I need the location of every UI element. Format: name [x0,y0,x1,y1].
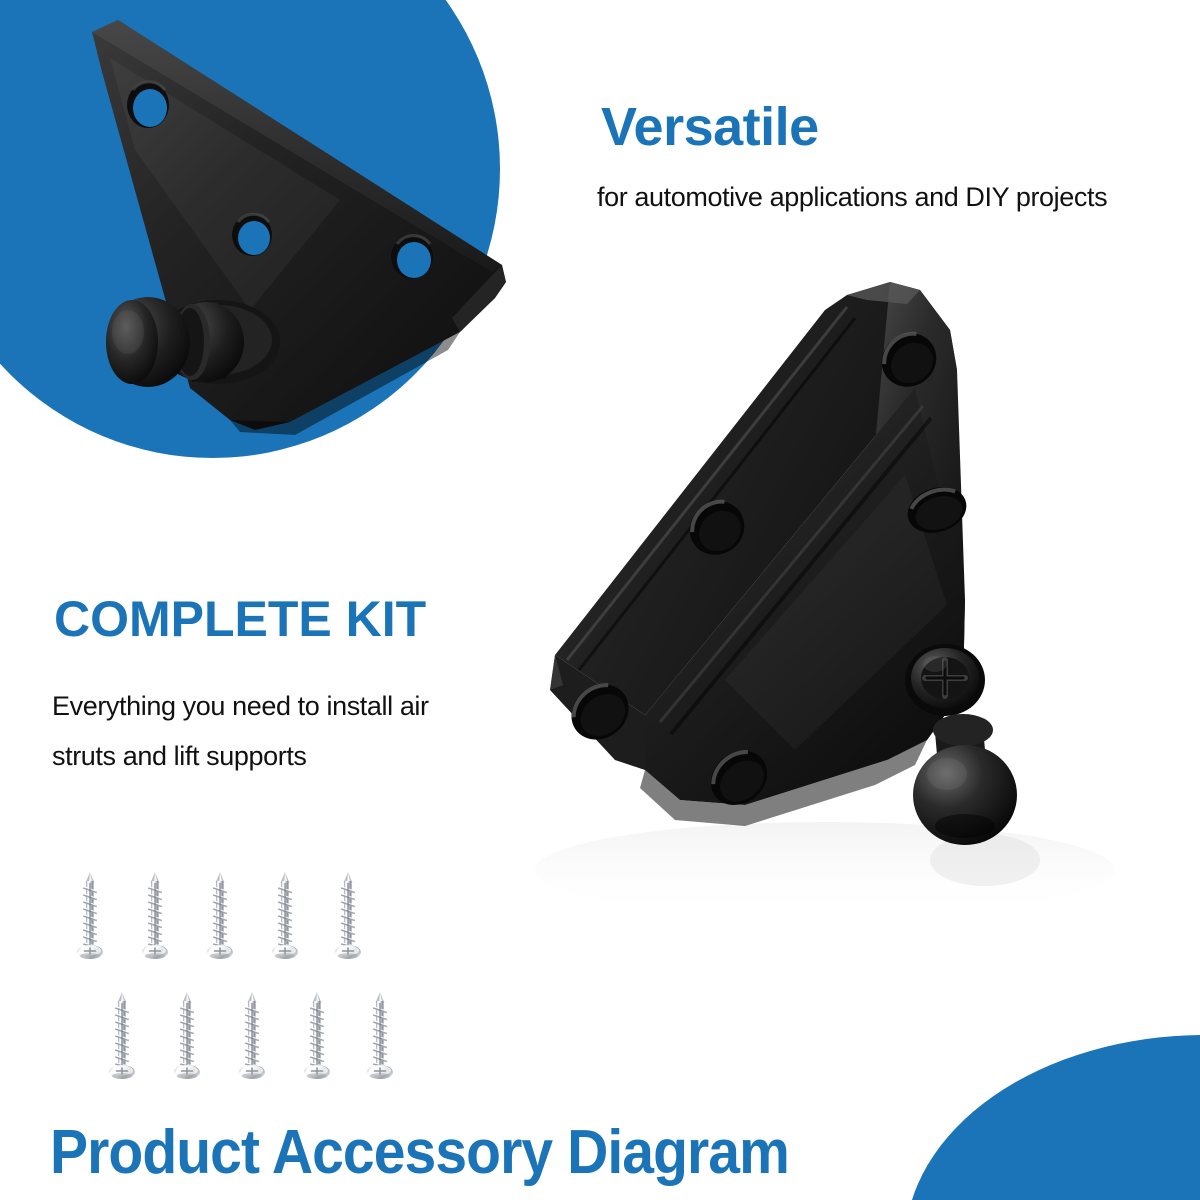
screws-illustration [60,865,420,1105]
large-bracket-phillips-screw [905,644,985,716]
large-bracket-illustration [495,260,1135,920]
page-title: Product Accessory Diagram [50,1117,789,1188]
product-marketing-image: Versatile for automotive applications an… [0,0,1200,1200]
large-bracket-ball-stud [913,714,1017,845]
screw-row-bottom [109,992,393,1079]
versatile-subtitle: for automotive applications and DIY proj… [597,182,1107,213]
large-bracket-reflection [535,822,1115,918]
versatile-heading: Versatile [601,96,819,158]
top-left-blue-circle-decoration [0,0,500,458]
large-bracket-mounting-holes [560,322,972,816]
screw-row-top [77,872,361,959]
bottom-right-blue-circle-decoration [905,1035,1200,1200]
complete-kit-heading: COMPLETE KIT [54,590,426,648]
complete-kit-body: Everything you need to install air strut… [52,681,482,781]
large-bracket-body [550,282,965,826]
